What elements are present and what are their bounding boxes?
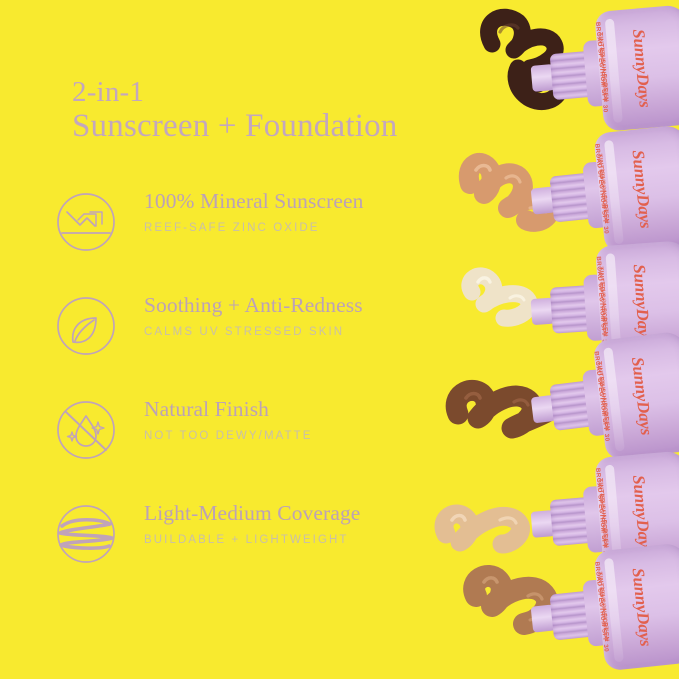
page-title: 2-in-1 Sunscreen + Foundation xyxy=(72,76,472,145)
feature-title: 100% Mineral Sunscreen xyxy=(144,188,474,215)
coverage-scribble-icon xyxy=(54,502,118,566)
feature-title: Soothing + Anti-Redness xyxy=(144,292,474,319)
brand-name: SunnyDays xyxy=(628,567,656,647)
headline-line-2: Sunscreen + Foundation xyxy=(72,108,472,145)
no-dewy-droplet-icon xyxy=(54,398,118,462)
feature-subtitle: BUILDABLE + LIGHTWEIGHT xyxy=(144,534,474,548)
product-poster: 2-in-1 Sunscreen + Foundation 1 xyxy=(0,0,679,679)
feature-text: 100% Mineral Sunscreen REEF-SAFE ZINC OX… xyxy=(144,188,474,236)
tube-label: SunnyDays BROAD SPECTRUM SPF 30 TINTED S… xyxy=(561,543,679,675)
headline-line-1: 2-in-1 xyxy=(72,76,472,108)
feature-item-mineral-sunscreen: 100% Mineral Sunscreen REEF-SAFE ZINC OX… xyxy=(50,186,470,290)
brand-name: SunnyDays xyxy=(629,28,656,108)
feature-subtitle: CALMS UV STRESSED SKIN xyxy=(144,326,474,340)
brand-name: SunnyDays xyxy=(628,149,656,229)
leaf-icon xyxy=(54,294,118,358)
feature-item-natural-finish: Natural Finish NOT TOO DEWY/MATTE xyxy=(50,394,470,498)
feature-item-soothing: Soothing + Anti-Redness CALMS UV STRESSE… xyxy=(50,290,470,394)
feature-text: Natural Finish NOT TOO DEWY/MATTE xyxy=(144,396,474,444)
product-tube-column: SunnyDays BROAD SPECTRUM SPF 30 TINTED S… xyxy=(430,0,679,679)
feature-title: Natural Finish xyxy=(144,396,474,423)
feature-text: Light-Medium Coverage BUILDABLE + LIGHTW… xyxy=(144,500,474,548)
feature-title: Light-Medium Coverage xyxy=(144,500,474,527)
brand-name: SunnyDays xyxy=(627,356,656,436)
feature-text: Soothing + Anti-Redness CALMS UV STRESSE… xyxy=(144,292,474,340)
info-column: 2-in-1 Sunscreen + Foundation 1 xyxy=(0,0,470,679)
uv-reflect-icon xyxy=(54,190,118,254)
product-tube[interactable]: SunnyDays BROAD SPECTRUM SPF 30 TINTED S… xyxy=(534,542,679,677)
feature-item-coverage: Light-Medium Coverage BUILDABLE + LIGHTW… xyxy=(50,498,470,602)
feature-subtitle: REEF-SAFE ZINC OXIDE xyxy=(144,222,474,236)
tube-unit: SunnyDays BROAD SPECTRUM SPF 30 TINTED S… xyxy=(430,530,679,679)
feature-list: 100% Mineral Sunscreen REEF-SAFE ZINC OX… xyxy=(50,186,470,602)
feature-subtitle: NOT TOO DEWY/MATTE xyxy=(144,430,474,444)
